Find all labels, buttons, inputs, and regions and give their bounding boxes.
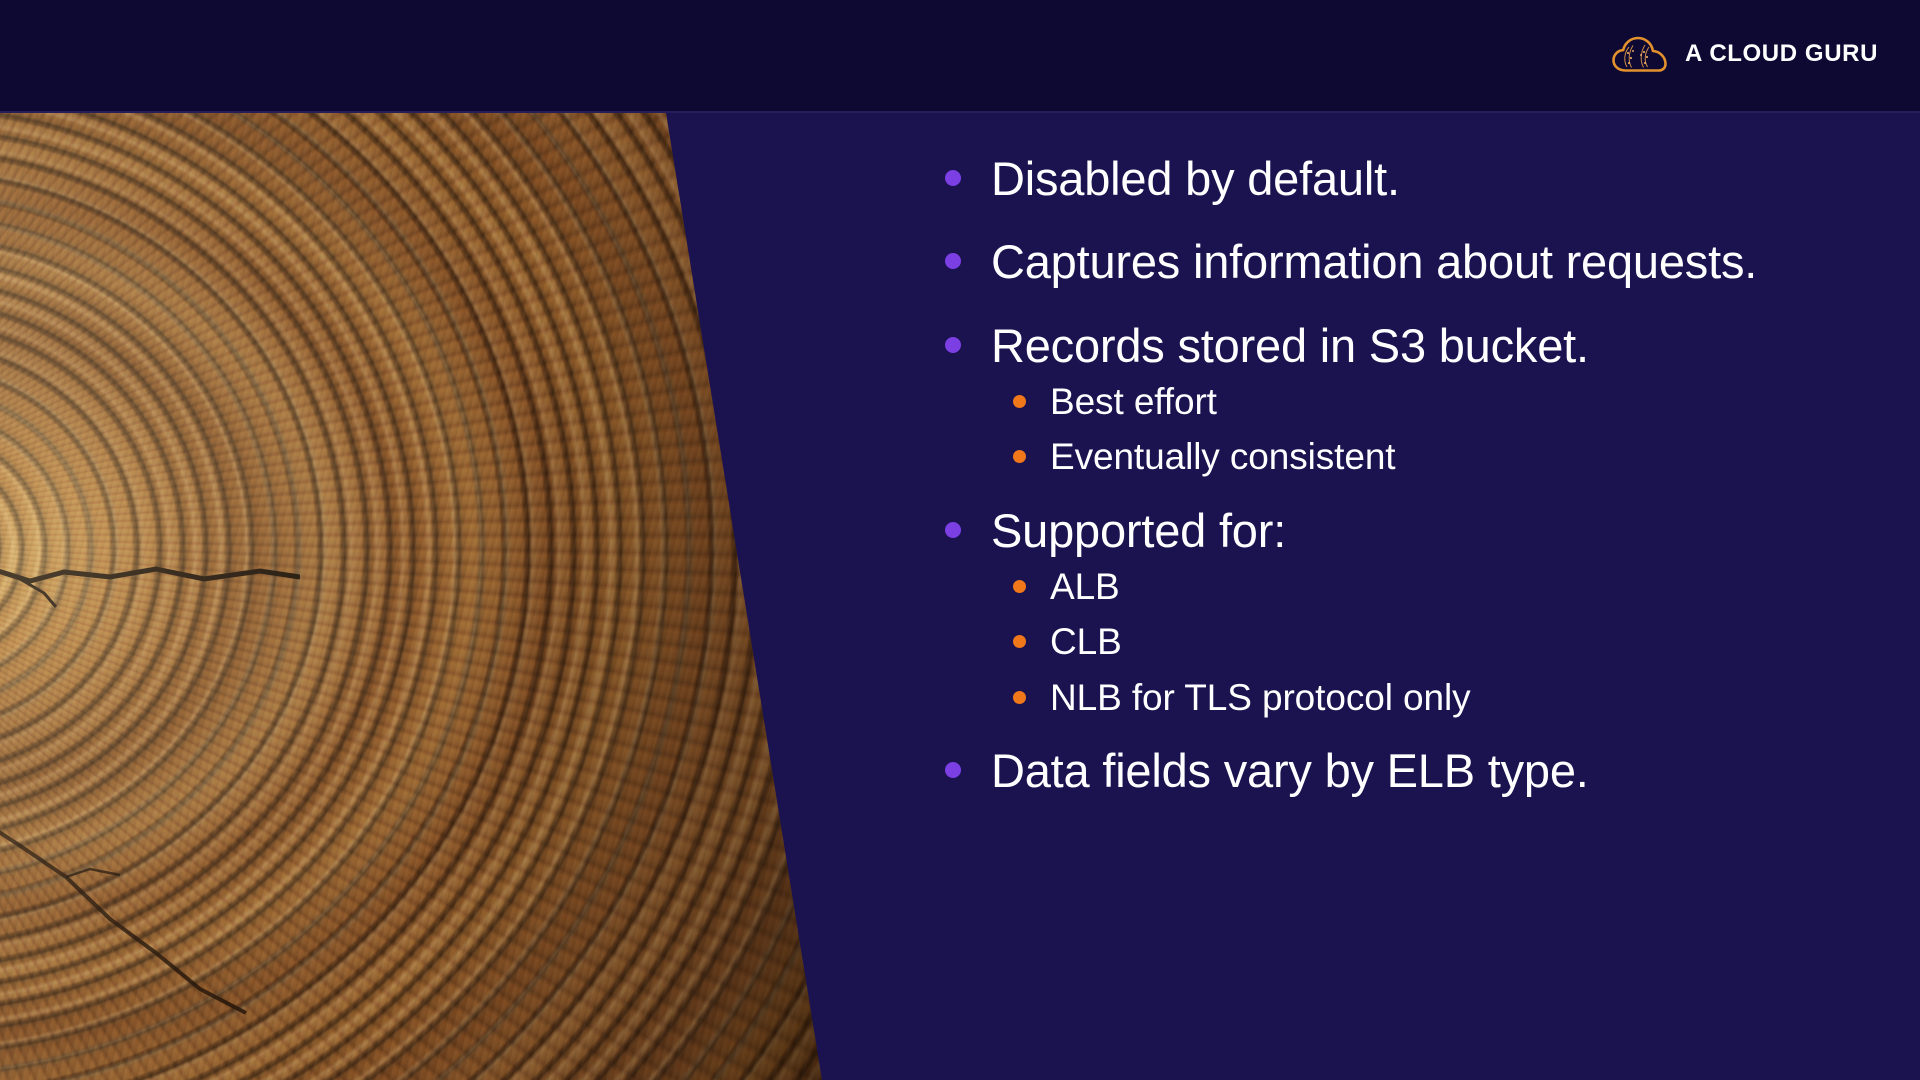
sub-bullet-dot-icon bbox=[1013, 580, 1026, 593]
wood-lighting-overlay bbox=[0, 113, 840, 1080]
list-item-label: ALB bbox=[1050, 565, 1120, 609]
list-item: CLB bbox=[945, 620, 1885, 664]
bullet-list: Disabled by default. Captures informatio… bbox=[945, 150, 1885, 826]
list-item-label: Eventually consistent bbox=[1050, 435, 1395, 479]
list-item: ALB bbox=[945, 565, 1885, 609]
brand-logo-text: A CLOUD GURU bbox=[1685, 40, 1878, 68]
list-item: Records stored in S3 bucket. bbox=[945, 317, 1885, 374]
bullet-dot-icon bbox=[945, 522, 961, 538]
sub-list-records: Best effort Eventually consistent bbox=[945, 380, 1885, 480]
slide: ELASTIC LOAD BALANCER OVERVIEW ELB Acces… bbox=[0, 0, 1920, 1080]
list-item: NLB for TLS protocol only bbox=[945, 676, 1885, 720]
wood-stump-image bbox=[0, 113, 840, 1080]
sub-bullet-dot-icon bbox=[1013, 395, 1026, 408]
list-item: Best effort bbox=[945, 380, 1885, 424]
sub-bullet-dot-icon bbox=[1013, 635, 1026, 648]
list-item: Supported for: bbox=[945, 502, 1885, 559]
sub-bullet-dot-icon bbox=[1013, 450, 1026, 463]
sub-bullet-dot-icon bbox=[1013, 691, 1026, 704]
cloud-icon bbox=[1611, 33, 1669, 75]
list-item: Data fields vary by ELB type. bbox=[945, 742, 1885, 799]
list-item-label: NLB for TLS protocol only bbox=[1050, 676, 1470, 720]
list-item-label: Disabled by default. bbox=[991, 150, 1400, 207]
list-item-label: CLB bbox=[1050, 620, 1122, 664]
bullet-dot-icon bbox=[945, 337, 961, 353]
list-item-label: Best effort bbox=[1050, 380, 1217, 424]
list-item: Eventually consistent bbox=[945, 435, 1885, 479]
bullet-dot-icon bbox=[945, 253, 961, 269]
bullet-dot-icon bbox=[945, 170, 961, 186]
bullet-dot-icon bbox=[945, 762, 961, 778]
list-item-label: Supported for: bbox=[991, 502, 1286, 559]
list-item-label: Records stored in S3 bucket. bbox=[991, 317, 1589, 374]
list-item-label: Captures information about requests. bbox=[991, 233, 1757, 290]
list-item: Captures information about requests. bbox=[945, 233, 1885, 290]
list-item: Disabled by default. bbox=[945, 150, 1885, 207]
wood-texture bbox=[0, 113, 840, 1080]
brand-logo: A CLOUD GURU bbox=[1611, 33, 1878, 75]
header-divider bbox=[0, 111, 1920, 113]
sub-list-supported-for: ALB CLB NLB for TLS protocol only bbox=[945, 565, 1885, 720]
list-item-label: Data fields vary by ELB type. bbox=[991, 742, 1589, 799]
